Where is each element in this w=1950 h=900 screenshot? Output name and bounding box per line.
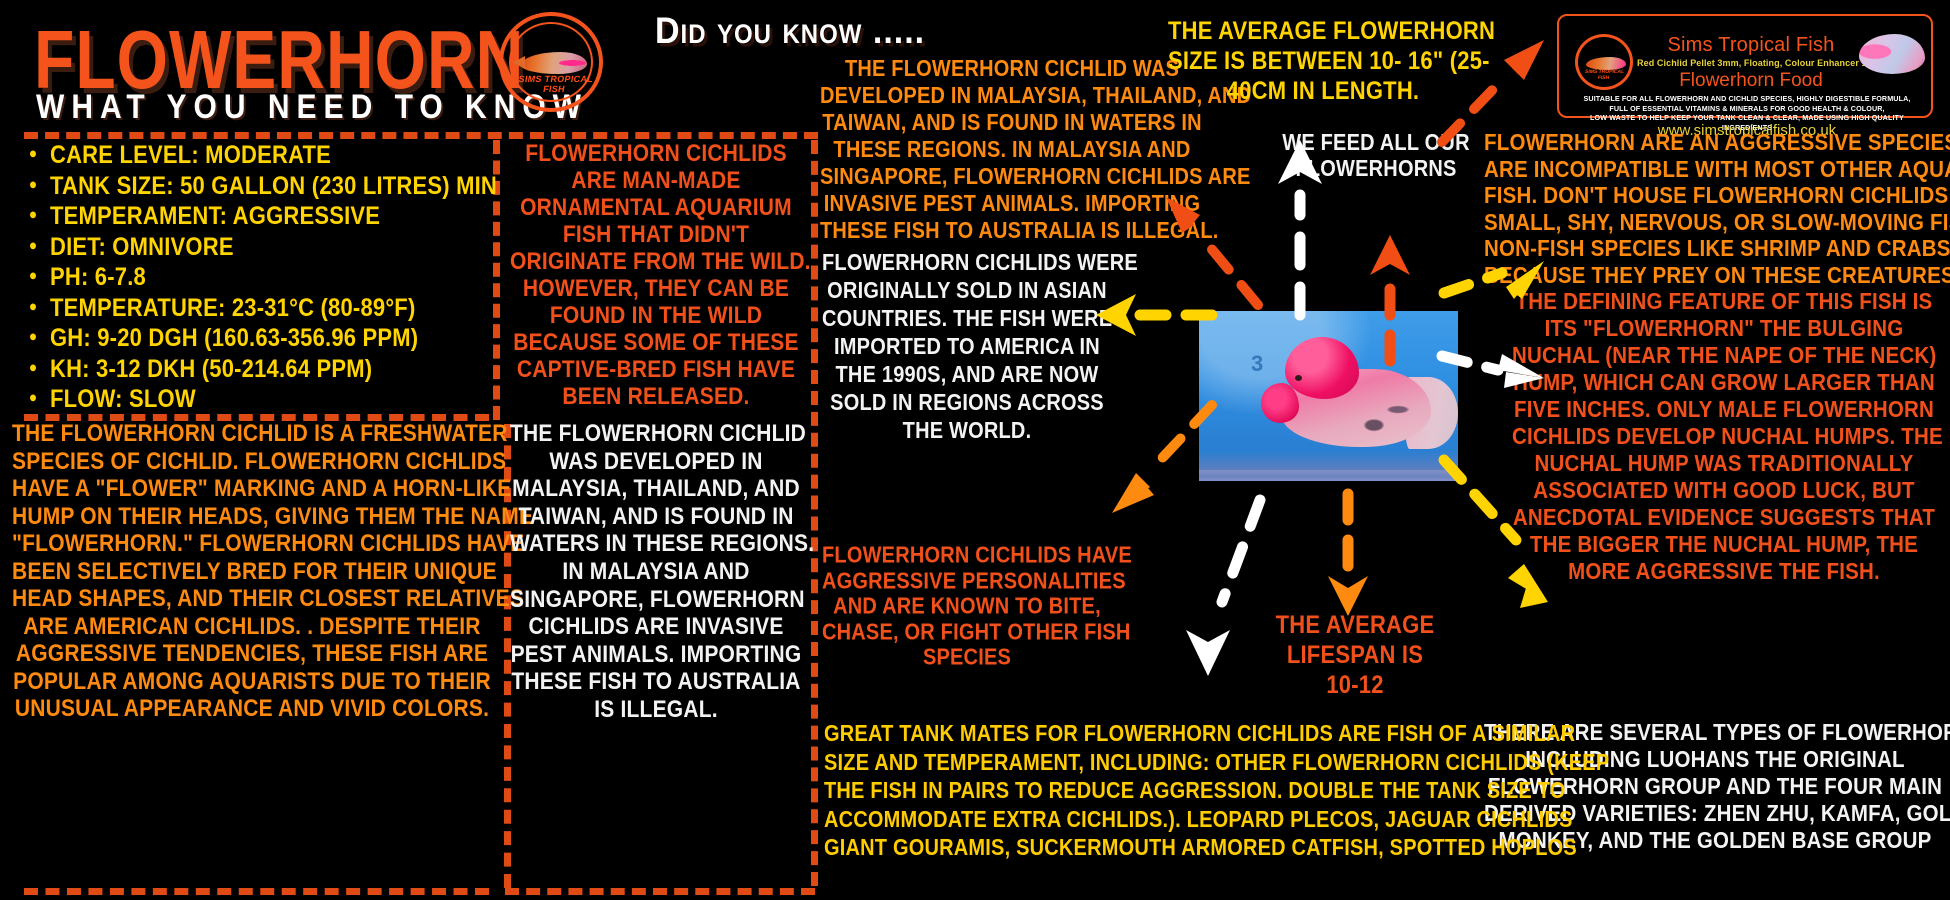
arrow-down-white <box>1150 490 1280 680</box>
arrow-up-right-orange <box>1432 30 1562 150</box>
list-item: FLOW: SLOW <box>24 382 424 416</box>
product-brand: Sims Tropical Fish <box>1651 34 1851 57</box>
arrow-right-white <box>1440 330 1560 400</box>
list-item: CARE LEVEL: MODERATE <box>24 138 424 172</box>
list-item: TEMPERATURE: 23-31°C (80-89°F) <box>24 291 424 325</box>
list-item: KH: 3-12 DKH (50-214.64 PPM) <box>24 352 424 386</box>
product-logo: SIMS TROPICAL FISH <box>1575 34 1633 90</box>
product-description: Red Cichlid Pellet 3mm, Floating, Colour… <box>1637 58 1867 68</box>
arrow-down-orange <box>1318 490 1378 620</box>
paragraph-asia-origin: FLOWERHORN CICHLIDS WERE ORIGINALLY SOLD… <box>822 249 1112 445</box>
paragraph-tank-mates: GREAT TANK MATES FOR FLOWERHORN CICHLIDS… <box>824 720 1496 863</box>
product-logo-caption: SIMS TROPICAL FISH <box>1579 69 1629 81</box>
nuchal-hump <box>1285 337 1359 399</box>
arrow-up-orange <box>1360 235 1420 365</box>
paragraph-left-intro: THE FLOWERHORN CICHLID IS A FRESHWATER S… <box>12 420 492 723</box>
tank-floor <box>1199 470 1458 478</box>
divider-vertical-right <box>811 140 818 886</box>
brand-logo: SIMS TROPICAL FISH <box>499 12 603 112</box>
fish-eye <box>1295 375 1302 381</box>
paragraph-man-made: FLOWERHORN CICHLIDS ARE MAN-MADE ORNAMEN… <box>510 140 802 410</box>
list-item: DIET: OMNIVORE <box>24 230 424 264</box>
brand-logo-caption: SIMS TROPICAL FISH <box>511 74 599 94</box>
fish-lip <box>1261 383 1299 423</box>
arrow-left-yellow <box>1096 285 1216 345</box>
product-name: Flowerhorn Food <box>1651 70 1851 92</box>
arrow-right-yellow <box>1440 255 1560 315</box>
spec-list: CARE LEVEL: MODERATE TANK SIZE: 50 GALLO… <box>24 140 424 415</box>
list-item: TEMPERAMENT: AGGRESSIVE <box>24 199 424 233</box>
product-fish-image <box>1859 34 1925 74</box>
page-subtitle: WHAT YOU NEED TO KNOW <box>36 88 588 127</box>
arrow-down-right-yellow <box>1440 450 1590 630</box>
paragraph-average-lifespan: THE AVERAGE LIFESPAN IS 10-12 <box>1260 610 1450 700</box>
list-item: GH: 9-20 DGH (160.63-356.96 PPM) <box>24 321 424 355</box>
divider-bottom-col2 <box>505 888 815 895</box>
tank-marker-label: 3 <box>1251 351 1263 377</box>
did-you-know-heading: Did you know ..... <box>655 10 925 53</box>
infographic-poster: FLOWERHORN WHAT YOU NEED TO KNOW SIMS TR… <box>0 0 1950 900</box>
paragraph-developed-col2: THE FLOWERHORN CICHLID WAS DEVELOPED IN … <box>510 420 802 724</box>
list-item: TANK SIZE: 50 GALLON (230 LITRES) MIN <box>24 169 424 203</box>
paragraph-aggressive-personalities: FLOWERHORN CICHLIDS HAVE AGGRESSIVE PERS… <box>822 544 1112 672</box>
product-panel[interactable]: SIMS TROPICAL FISH Sims Tropical Fish Re… <box>1557 14 1933 118</box>
list-item: PH: 6-7.8 <box>24 260 424 294</box>
fish-icon <box>521 52 587 74</box>
divider-bottom-left <box>24 888 489 895</box>
arrow-up-white <box>1270 140 1330 320</box>
